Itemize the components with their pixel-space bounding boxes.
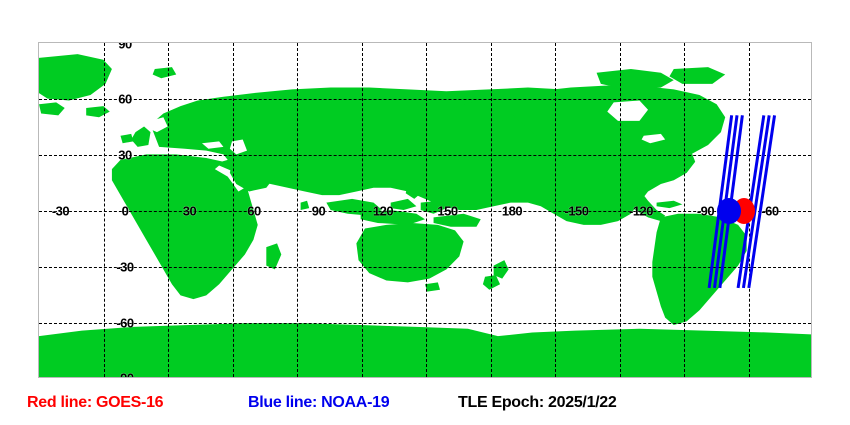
grid-line-parallel (39, 99, 811, 100)
latitude-tick-label: 60 (118, 93, 131, 106)
grid-line-parallel (39, 267, 811, 268)
legend-red-line-goes16: Red line: GOES-16 (27, 393, 163, 413)
longitude-tick-label: -30 (52, 205, 69, 218)
grid-line-meridian (362, 43, 363, 377)
longitude-tick-label: 60 (247, 205, 260, 218)
legend: Red line: GOES-16 Blue line: NOAA-19 TLE… (0, 393, 850, 421)
grid-line-meridian (491, 43, 492, 377)
grid-line-meridian (104, 43, 105, 377)
landmass-layer (39, 43, 811, 377)
grid-line-meridian (620, 43, 621, 377)
grid-line-parallel (39, 155, 811, 156)
longitude-tick-label: -150 (564, 205, 588, 218)
grid-line-meridian (233, 43, 234, 377)
longitude-tick-label: 180 (502, 205, 522, 218)
grid-line-meridian (297, 43, 298, 377)
longitude-tick-label: 120 (373, 205, 393, 218)
latitude-tick-label: 0 (122, 205, 129, 218)
legend-blue-line-noaa19: Blue line: NOAA-19 (248, 393, 389, 413)
grid-line-meridian (168, 43, 169, 377)
satellite-ground-track-map: -300306090120150180-150-120-90-609060300… (0, 0, 850, 425)
longitude-tick-label: 150 (437, 205, 457, 218)
longitude-tick-label: -90 (697, 205, 714, 218)
longitude-tick-label: -120 (629, 205, 653, 218)
latitude-tick-label: -60 (116, 317, 133, 330)
grid-line-parallel (39, 211, 811, 212)
legend-tle-epoch: TLE Epoch: 2025/1/22 (458, 393, 617, 413)
latitude-tick-label: 30 (118, 149, 131, 162)
grid-line-meridian (684, 43, 685, 377)
world-map-plot: -300306090120150180-150-120-90-609060300… (38, 42, 812, 378)
grid-line-meridian (555, 43, 556, 377)
latitude-tick-label: -30 (116, 261, 133, 274)
longitude-tick-label: 30 (183, 205, 196, 218)
longitude-tick-label: -60 (761, 205, 778, 218)
grid-line-parallel (39, 323, 811, 324)
grid-line-meridian (426, 43, 427, 377)
latitude-tick-label: 90 (118, 42, 131, 51)
satellite-marker-noaa-19 (717, 198, 741, 224)
latitude-tick-label: -90 (116, 372, 133, 379)
world-landmass-svg (39, 43, 811, 377)
longitude-tick-label: 90 (312, 205, 325, 218)
